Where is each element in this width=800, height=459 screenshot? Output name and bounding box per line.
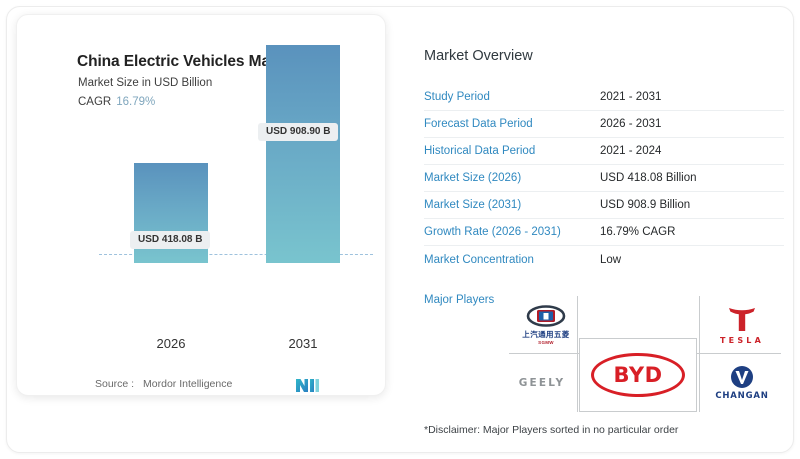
data-label-2026: USD 418.08 B xyxy=(130,231,210,249)
row-value-growth-rate: 16.79% CAGR xyxy=(600,226,675,238)
row-label-market-size-2031: Market Size (2031) xyxy=(424,199,600,211)
source-name: Mordor Intelligence xyxy=(143,378,232,390)
changan-shield-icon xyxy=(730,365,754,389)
market-report-page: China Electric Vehicles Market Market Si… xyxy=(0,0,800,459)
row-label-market-concentration: Market Concentration xyxy=(424,254,600,266)
source-label: Source : xyxy=(95,378,134,390)
x-axis-tick-2031: 2031 xyxy=(263,336,343,351)
mordor-intelligence-logo-icon xyxy=(295,377,321,393)
cagr-value: 16.79% xyxy=(116,96,155,108)
source-text: Source : Mordor Intelligence xyxy=(95,378,232,390)
chart-title: China Electric Vehicles Market xyxy=(77,53,298,71)
player-cell-changan[interactable]: CHANGAN xyxy=(705,355,779,411)
geely-logo-icon: GEELY xyxy=(519,377,566,389)
byd-logo-icon: BYD xyxy=(591,353,685,397)
disclaimer-text: *Disclaimer: Major Players sorted in no … xyxy=(424,424,678,436)
row-label-study-period: Study Period xyxy=(424,91,600,103)
tesla-t-icon xyxy=(727,306,757,332)
table-row: Historical Data Period 2021 - 2024 xyxy=(424,138,784,165)
bar-2031[interactable] xyxy=(266,45,340,263)
row-value-study-period: 2021 - 2031 xyxy=(600,91,661,103)
player-cell-byd[interactable]: BYD xyxy=(579,338,697,412)
wuling-english-text: SGMW xyxy=(538,340,554,345)
grid-divider-vertical-left xyxy=(577,296,578,412)
row-value-market-concentration: Low xyxy=(600,254,621,266)
market-overview-table: Study Period 2021 - 2031 Forecast Data P… xyxy=(424,84,784,273)
cagr-row: CAGR16.79% xyxy=(78,96,155,108)
row-label-forecast-data-period: Forecast Data Period xyxy=(424,118,600,130)
data-label-2031: USD 908.90 B xyxy=(258,123,338,141)
wuling-chinese-text: 上汽通用五菱 xyxy=(522,329,569,340)
table-row: Market Concentration Low xyxy=(424,246,784,273)
bar-chart-plot: USD 418.08 B USD 908.90 B 2026 2031 xyxy=(33,115,371,355)
row-label-market-size-2026: Market Size (2026) xyxy=(424,172,600,184)
row-value-forecast-data-period: 2026 - 2031 xyxy=(600,118,661,130)
wuling-emblem-icon xyxy=(526,305,566,327)
table-row: Market Size (2026) USD 418.08 Billion xyxy=(424,165,784,192)
cagr-label: CAGR xyxy=(78,96,111,108)
changan-logo-icon: CHANGAN xyxy=(715,365,768,401)
x-axis-tick-2026: 2026 xyxy=(131,336,211,351)
major-players-logo-grid: 上汽通用五菱 SGMW TESLA BYD GEELY xyxy=(509,296,781,412)
tesla-wordmark: TESLA xyxy=(720,336,764,345)
table-row: Market Size (2031) USD 908.9 Billion xyxy=(424,192,784,219)
byd-wordmark: BYD xyxy=(614,363,663,387)
tesla-logo-icon: TESLA xyxy=(720,306,764,345)
player-cell-wuling[interactable]: 上汽通用五菱 SGMW xyxy=(515,297,577,353)
row-value-market-size-2026: USD 418.08 Billion xyxy=(600,172,697,184)
chart-card: China Electric Vehicles Market Market Si… xyxy=(16,14,386,396)
player-cell-geely[interactable]: GEELY xyxy=(509,355,575,411)
major-players-label: Major Players xyxy=(424,294,494,306)
player-cell-tesla[interactable]: TESLA xyxy=(705,297,779,353)
table-row: Forecast Data Period 2026 - 2031 xyxy=(424,111,784,138)
row-value-historical-data-period: 2021 - 2024 xyxy=(600,145,661,157)
row-value-market-size-2031: USD 908.9 Billion xyxy=(600,199,690,211)
grid-divider-vertical-right xyxy=(699,296,700,412)
table-row: Growth Rate (2026 - 2031) 16.79% CAGR xyxy=(424,219,784,246)
row-label-historical-data-period: Historical Data Period xyxy=(424,145,600,157)
chart-subtitle: Market Size in USD Billion xyxy=(78,77,212,89)
panel-title: Market Overview xyxy=(424,48,533,64)
row-label-growth-rate: Growth Rate (2026 - 2031) xyxy=(424,226,600,238)
wuling-logo-icon: 上汽通用五菱 SGMW xyxy=(522,305,569,345)
changan-wordmark: CHANGAN xyxy=(715,391,768,401)
table-row: Study Period 2021 - 2031 xyxy=(424,84,784,111)
